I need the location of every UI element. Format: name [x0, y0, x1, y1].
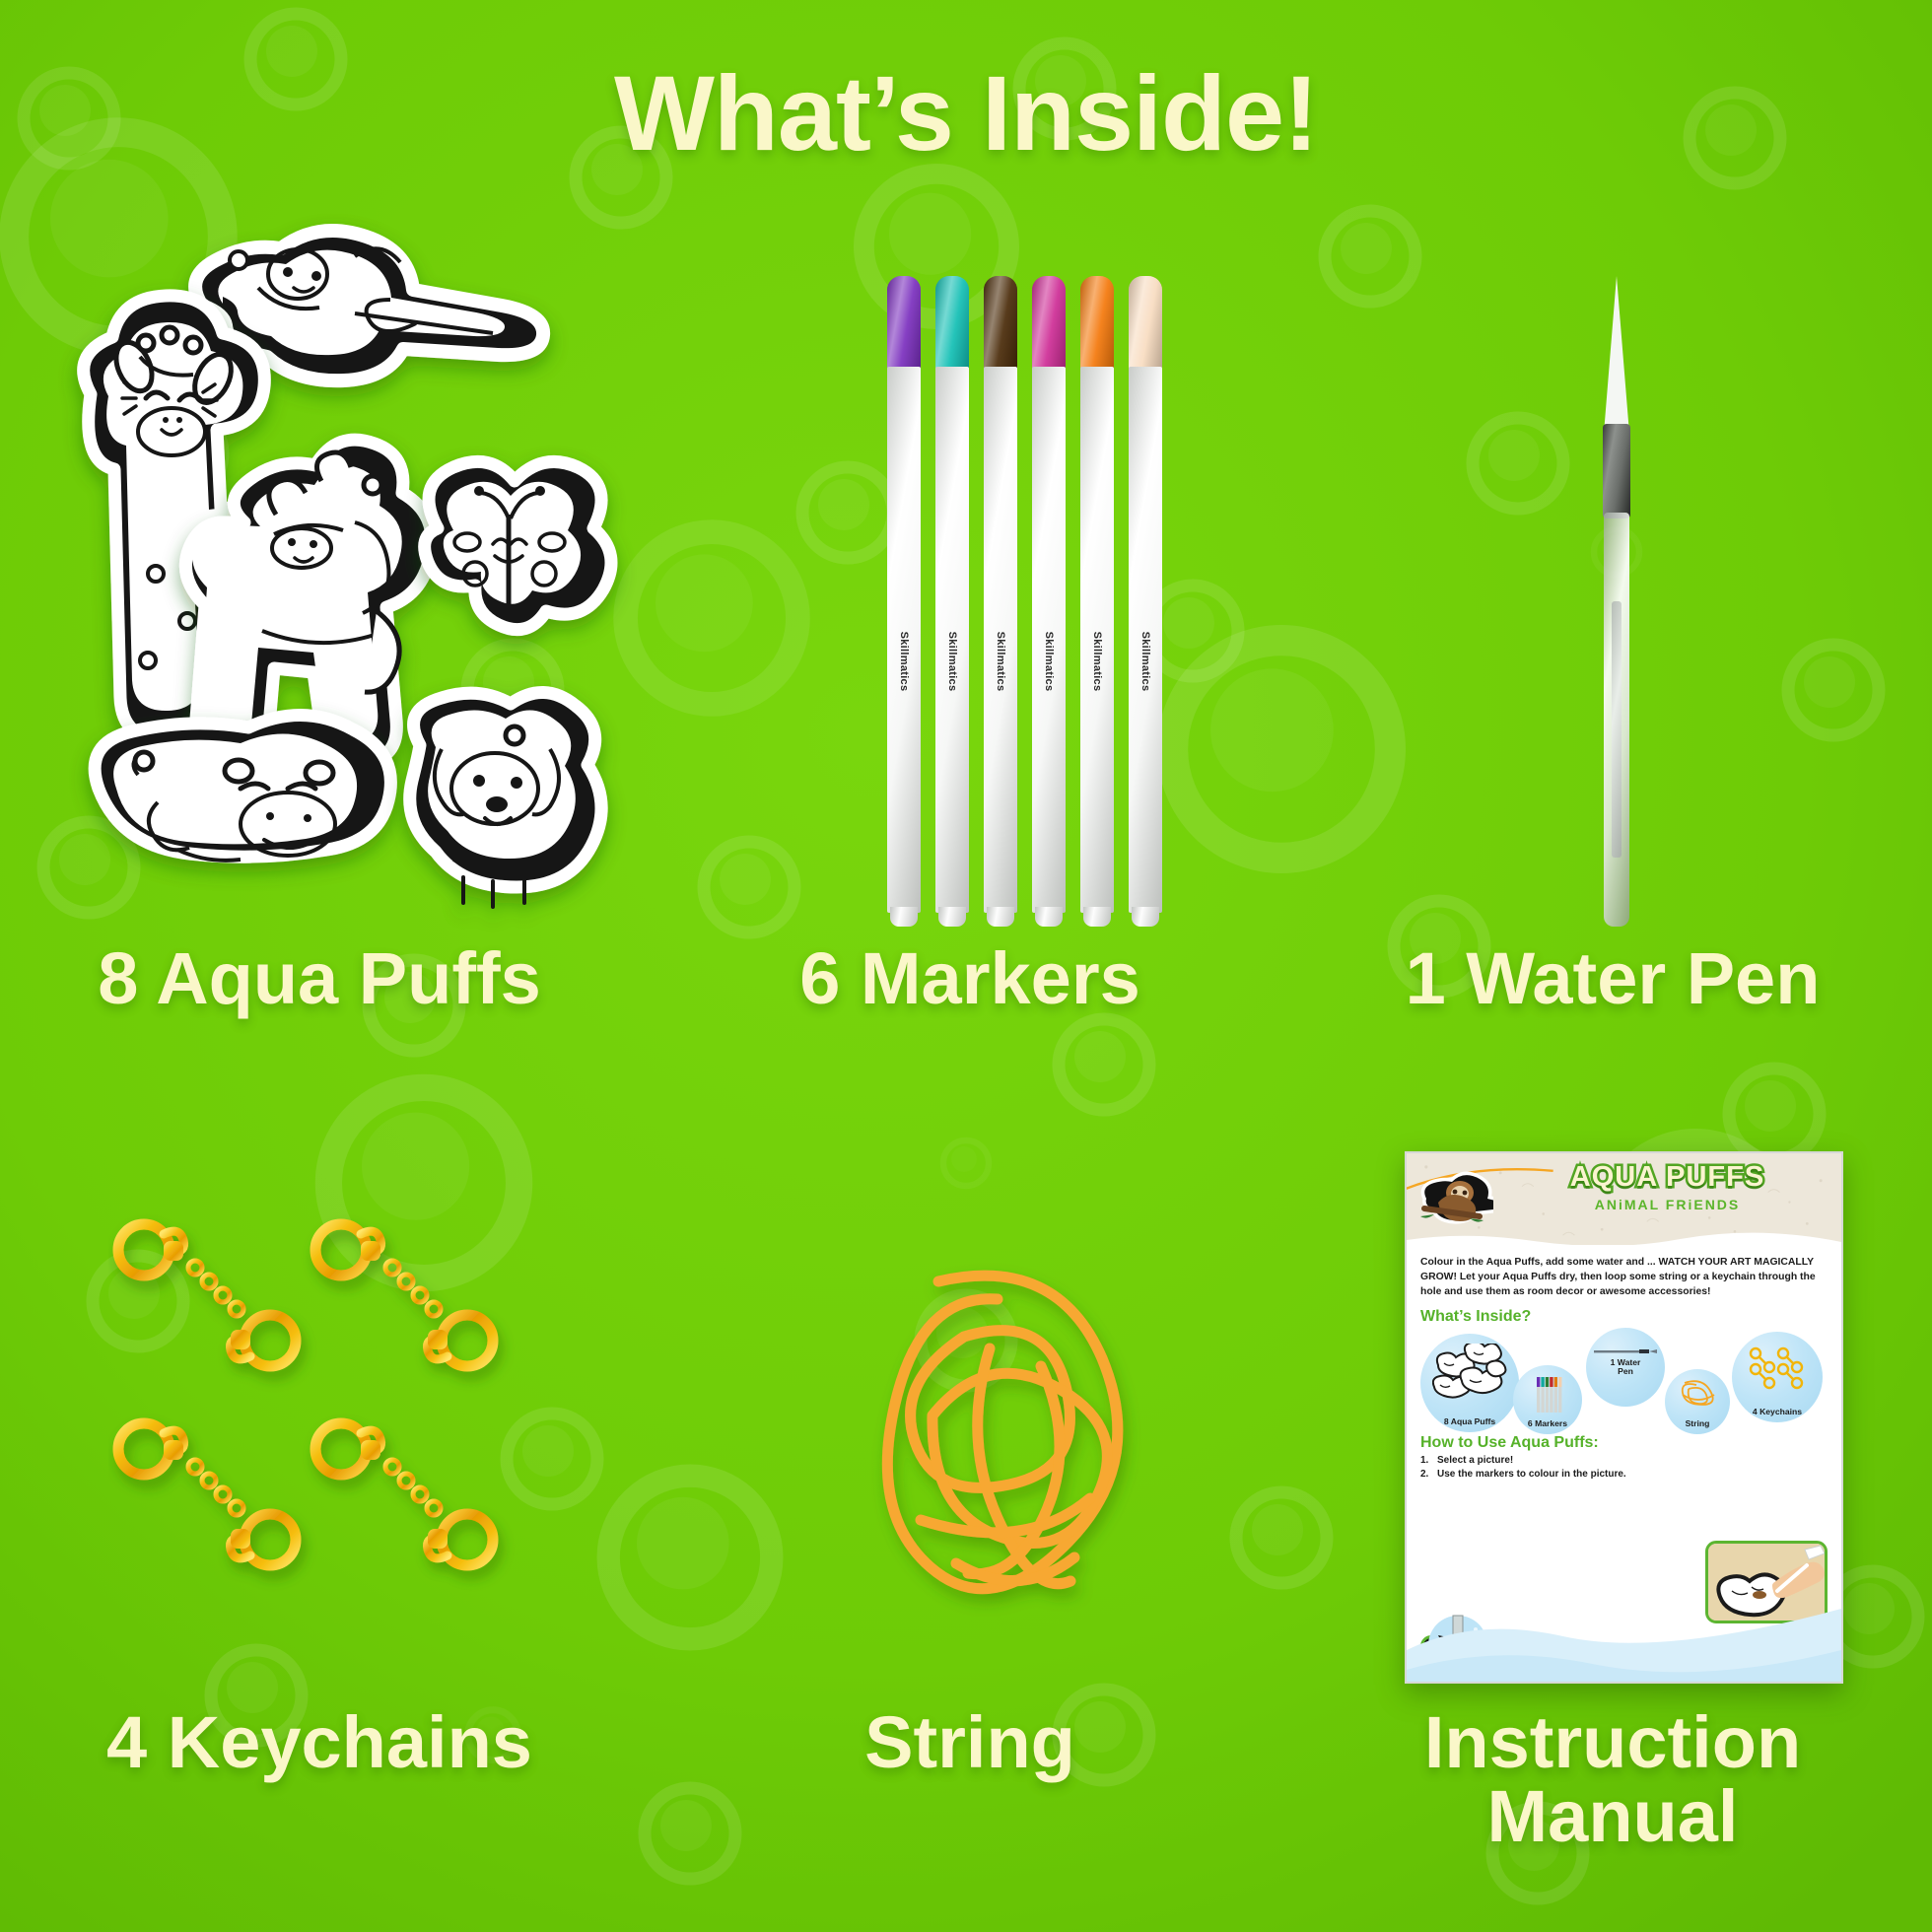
marker-cap-teal — [935, 276, 969, 371]
marker-5: Skillmatics — [1080, 276, 1114, 927]
manual-howto-heading: How to Use Aqua Puffs: — [1420, 1434, 1828, 1452]
manual-inside-bubbles: 8 Aqua Puffs — [1420, 1328, 1828, 1430]
inside-bubble-label: 4 Keychains — [1753, 1408, 1802, 1423]
marker-2: Skillmatics — [935, 276, 969, 927]
marker-cap-purple — [887, 276, 921, 371]
marker-foot — [1035, 907, 1063, 927]
marker-brand-label: Skillmatics — [1139, 632, 1151, 692]
mini-markers-icon — [1535, 1373, 1562, 1418]
marker-1: Skillmatics — [887, 276, 921, 927]
marker-cap-orange — [1080, 276, 1114, 371]
label-manual-line2: Manual — [1293, 1779, 1932, 1853]
marker-foot — [987, 907, 1014, 927]
manual-logo-title: AQUA PUFFS — [1501, 1163, 1833, 1192]
manual-intro-paragraph: Colour in the Aqua Puffs, add some water… — [1420, 1256, 1828, 1299]
inside-bubble-water-pen: 1 Water Pen — [1586, 1328, 1665, 1407]
inside-bubble-label: 1 Water Pen — [1611, 1358, 1641, 1377]
label-markers: 6 Markers — [651, 941, 1289, 1015]
instruction-manual-sheet: AQUA PUFFS ANiMAL FRiENDS Colour in the … — [1405, 1151, 1843, 1684]
marker-body: Skillmatics — [887, 367, 921, 913]
marker-body: Skillmatics — [935, 367, 969, 913]
sloth-logo-icon — [1416, 1169, 1493, 1226]
keychains-group — [108, 1212, 552, 1626]
mini-puffs-icon — [1432, 1344, 1507, 1405]
marker-foot — [1083, 907, 1111, 927]
water-pen-collar — [1603, 424, 1630, 518]
manual-bottom-wave — [1407, 1597, 1841, 1682]
water-pen — [1557, 276, 1676, 927]
marker-cap-dark-brown — [984, 276, 1017, 371]
label-water-pen: 1 Water Pen — [1293, 941, 1932, 1015]
inside-bubble-aqua-puffs: 8 Aqua Puffs — [1420, 1334, 1519, 1432]
mini-keychains-icon — [1748, 1345, 1809, 1391]
mini-string-icon — [1677, 1377, 1718, 1407]
inside-bubble-string: String — [1665, 1369, 1730, 1434]
inside-bubble-label: 8 Aqua Puffs — [1444, 1417, 1495, 1433]
marker-brand-label: Skillmatics — [995, 632, 1006, 692]
step-number: 2. — [1420, 1469, 1431, 1480]
water-pen-brush-tip — [1604, 276, 1629, 434]
aqua-puffs-group — [30, 197, 641, 946]
marker-4: Skillmatics — [1032, 276, 1066, 927]
water-pen-inner-tube — [1612, 601, 1621, 858]
marker-cap-peach — [1129, 276, 1162, 371]
string-coil — [848, 1242, 1183, 1617]
aqua-puff-dog — [410, 692, 601, 907]
header-wave-divider — [1407, 1231, 1841, 1245]
inside-bubble-markers: 6 Markers — [1513, 1365, 1582, 1434]
manual-step-2: 2. Use the markers to colour in the pict… — [1420, 1469, 1828, 1480]
label-manual-line1: Instruction — [1293, 1705, 1932, 1779]
keychain-4 — [315, 1423, 493, 1565]
step-text: Select a picture! — [1437, 1455, 1513, 1466]
inside-bubble-keychains: 4 Keychains — [1732, 1332, 1823, 1422]
step-text: Use the markers to colour in the picture… — [1437, 1469, 1626, 1480]
marker-body: Skillmatics — [1129, 367, 1162, 913]
marker-foot — [938, 907, 966, 927]
inside-bubble-label: String — [1686, 1419, 1710, 1435]
manual-whats-inside-heading: What’s Inside? — [1420, 1308, 1828, 1326]
label-keychains: 4 Keychains — [0, 1705, 639, 1779]
marker-brand-label: Skillmatics — [898, 632, 910, 692]
marker-body: Skillmatics — [1080, 367, 1114, 913]
keychain-3 — [118, 1423, 296, 1565]
label-string: String — [651, 1705, 1289, 1779]
marker-cap-magenta — [1032, 276, 1066, 371]
keychain-1 — [118, 1224, 296, 1366]
page-title: What’s Inside! — [0, 51, 1932, 174]
manual-step-1: 1. Select a picture! — [1420, 1455, 1828, 1466]
marker-brand-label: Skillmatics — [946, 632, 958, 692]
marker-body: Skillmatics — [1032, 367, 1066, 913]
manual-logo-subtitle: ANiMAL FRiENDS — [1501, 1197, 1833, 1212]
label-aqua-puffs: 8 Aqua Puffs — [0, 941, 639, 1015]
inside-bubble-label: 6 Markers — [1528, 1419, 1567, 1435]
marker-brand-label: Skillmatics — [1091, 632, 1103, 692]
marker-body: Skillmatics — [984, 367, 1017, 913]
aqua-puff-hippo — [95, 715, 390, 860]
marker-foot — [1132, 907, 1159, 927]
markers-group: Skillmatics Skillmatics Skillmatics Skil… — [887, 276, 1163, 927]
manual-header: AQUA PUFFS ANiMAL FRiENDS — [1407, 1153, 1841, 1245]
marker-brand-label: Skillmatics — [1043, 632, 1055, 692]
label-instruction-manual: Instruction Manual — [1293, 1705, 1932, 1854]
mini-water-pen-icon — [1594, 1347, 1657, 1355]
marker-foot — [890, 907, 918, 927]
step-number: 1. — [1420, 1455, 1431, 1466]
marker-3: Skillmatics — [984, 276, 1017, 927]
marker-6: Skillmatics — [1129, 276, 1162, 927]
keychain-2 — [315, 1224, 493, 1366]
aqua-puff-butterfly — [425, 461, 611, 629]
